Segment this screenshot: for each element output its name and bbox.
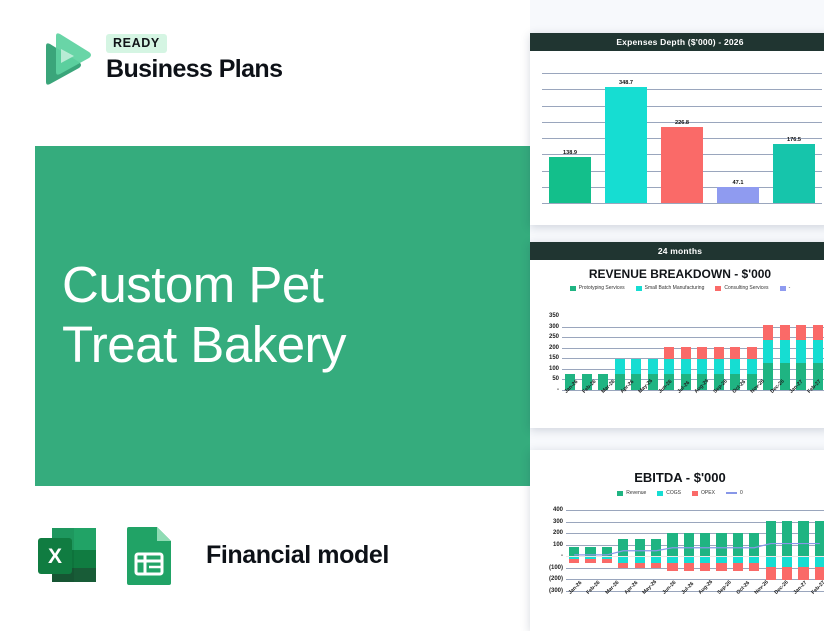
bar-column xyxy=(678,316,695,390)
y-axis-tick-label: 350 xyxy=(549,313,559,319)
bar-segment xyxy=(763,340,773,362)
y-axis-tick-label: - xyxy=(561,553,563,559)
bar-segment xyxy=(730,347,740,359)
bar-segment xyxy=(763,363,773,390)
bar-segment xyxy=(714,347,724,359)
y-axis-tick-label: 200 xyxy=(553,530,563,536)
svg-text:X: X xyxy=(48,545,62,568)
bar-segment xyxy=(631,359,641,374)
bar-value-label: 176.5 xyxy=(787,137,801,143)
bar-segment xyxy=(747,359,757,374)
brand-text-block: READY Business Plans xyxy=(106,34,282,84)
legend-label: 0 xyxy=(740,490,743,496)
bar: 348.7 xyxy=(605,87,646,203)
bar-column xyxy=(793,316,810,390)
legend-label: Small Batch Manufacturing xyxy=(645,285,705,291)
bar-segment xyxy=(664,359,674,374)
bar-segment xyxy=(714,359,724,374)
legend-label: Prototyping Services xyxy=(579,285,625,291)
revenue-chart-title: REVENUE BREAKDOWN - $'000 xyxy=(536,267,824,281)
bar-column: 47.1 xyxy=(710,73,766,203)
bar-column xyxy=(595,316,612,390)
bar-value-label: 47.1 xyxy=(733,180,744,186)
bar: 226.8 xyxy=(661,127,702,203)
bar-segment xyxy=(813,340,823,362)
bar-segment xyxy=(813,325,823,340)
y-axis-tick-label: - xyxy=(557,387,559,393)
bar-value-label: 138.9 xyxy=(563,150,577,156)
excel-file-icon: X xyxy=(34,522,100,588)
bar-segment xyxy=(648,359,658,374)
ebitda-chart-title: EBITDA - $'000 xyxy=(536,470,824,485)
play-triangle-logo-icon xyxy=(30,28,92,90)
legend-label: - xyxy=(789,285,791,291)
bar-segment xyxy=(747,347,757,359)
bar-column xyxy=(727,316,744,390)
bar-column: 226.8 xyxy=(654,73,710,203)
brand-name: Business Plans xyxy=(106,56,282,84)
bar-segment xyxy=(796,340,806,362)
bar-segment xyxy=(681,347,691,359)
legend-label: Consulting Services xyxy=(724,285,768,291)
revenue-plot-area: 35030025020015010050-Jan-26Feb-26Mar-26A… xyxy=(562,316,824,390)
bar-column xyxy=(777,316,794,390)
bar-value-label: 226.8 xyxy=(675,120,689,126)
bar-segment xyxy=(615,359,625,374)
legend-swatch-icon xyxy=(636,286,642,291)
bar-column: 348.7 xyxy=(598,73,654,203)
y-axis-tick-label: 50 xyxy=(552,376,559,382)
expenses-plot-area: 138.9348.7226.847.1176.5 xyxy=(542,73,822,203)
legend-item: OPEX xyxy=(692,490,715,496)
bar: 176.5 xyxy=(773,144,814,203)
bar-segment xyxy=(664,347,674,359)
footer-row: X Financial model xyxy=(34,522,389,588)
chart-card-revenue[interactable]: 24 months REVENUE BREAKDOWN - $'000 Prot… xyxy=(530,242,824,428)
bar-segment xyxy=(780,325,790,340)
bar-column xyxy=(562,316,579,390)
bar-segment xyxy=(763,325,773,340)
legend-item: COGS xyxy=(657,490,681,496)
slide-canvas: READY Business Plans Custom Pet Treat Ba… xyxy=(0,0,824,631)
legend-item: 0 xyxy=(726,490,743,496)
y-axis-tick-label: 250 xyxy=(549,334,559,340)
legend-item: Revenue xyxy=(617,490,646,496)
ebitda-chart-legend: RevenueCOGSOPEX0 xyxy=(536,490,824,496)
y-axis-tick-label: (100) xyxy=(549,565,563,571)
legend-swatch-icon xyxy=(692,491,698,496)
legend-swatch-icon xyxy=(780,286,786,291)
legend-label: Revenue xyxy=(626,490,646,496)
legend-item: Consulting Services xyxy=(715,285,768,291)
y-axis-tick-label: 100 xyxy=(553,542,563,548)
bar-segment xyxy=(697,347,707,359)
legend-swatch-icon xyxy=(726,492,737,494)
bar-column: 176.5 xyxy=(766,73,822,203)
y-axis-tick-label: (300) xyxy=(549,588,563,594)
bar-segment xyxy=(796,325,806,340)
y-axis-tick-label: 100 xyxy=(549,366,559,372)
brand-lockup: READY Business Plans xyxy=(30,28,282,90)
legend-label: OPEX xyxy=(701,490,715,496)
legend-item: Small Batch Manufacturing xyxy=(636,285,705,291)
legend-swatch-icon xyxy=(617,491,623,496)
ready-badge: READY xyxy=(106,34,167,53)
revenue-chart-strip-label: 24 months xyxy=(530,242,824,260)
bar-segment xyxy=(697,359,707,374)
bar-segment xyxy=(780,340,790,362)
gridline xyxy=(542,203,822,204)
y-axis-tick-label: (200) xyxy=(549,576,563,582)
chart-card-expenses[interactable]: Expenses Depth ($'000) - 2026 138.9348.7… xyxy=(530,33,824,225)
bar-segment xyxy=(681,359,691,374)
revenue-chart-legend: Prototyping ServicesSmall Batch Manufact… xyxy=(536,285,824,291)
ebitda-plot-area: 400300200100-(100)(200)(300)Jan-26Feb-26… xyxy=(566,510,824,591)
y-axis-tick-label: 200 xyxy=(549,345,559,351)
y-axis-tick-label: 150 xyxy=(549,355,559,361)
bar-value-label: 348.7 xyxy=(619,80,633,86)
bar: 138.9 xyxy=(549,157,590,203)
y-axis-tick-label: 300 xyxy=(549,324,559,330)
expenses-chart-strip-label: Expenses Depth ($'000) - 2026 xyxy=(530,33,824,51)
page-title: Custom Pet Treat Bakery xyxy=(62,255,492,375)
legend-swatch-icon xyxy=(657,491,663,496)
bar-column: 138.9 xyxy=(542,73,598,203)
y-axis-tick-label: 300 xyxy=(553,519,563,525)
bar-column xyxy=(744,316,761,390)
legend-swatch-icon xyxy=(715,286,721,291)
google-sheets-file-icon xyxy=(117,522,183,588)
legend-item: - xyxy=(780,285,791,291)
chart-card-ebitda[interactable]: EBITDA - $'000 RevenueCOGSOPEX0 40030020… xyxy=(530,450,824,631)
bar: 47.1 xyxy=(717,187,758,203)
footer-label: Financial model xyxy=(206,541,389,570)
bar-column xyxy=(612,316,629,390)
legend-label: COGS xyxy=(666,490,681,496)
bar-segment xyxy=(730,359,740,374)
legend-swatch-icon xyxy=(570,286,576,291)
legend-item: Prototyping Services xyxy=(570,285,625,291)
bar-column xyxy=(645,316,662,390)
y-axis-tick-label: 400 xyxy=(553,507,563,513)
